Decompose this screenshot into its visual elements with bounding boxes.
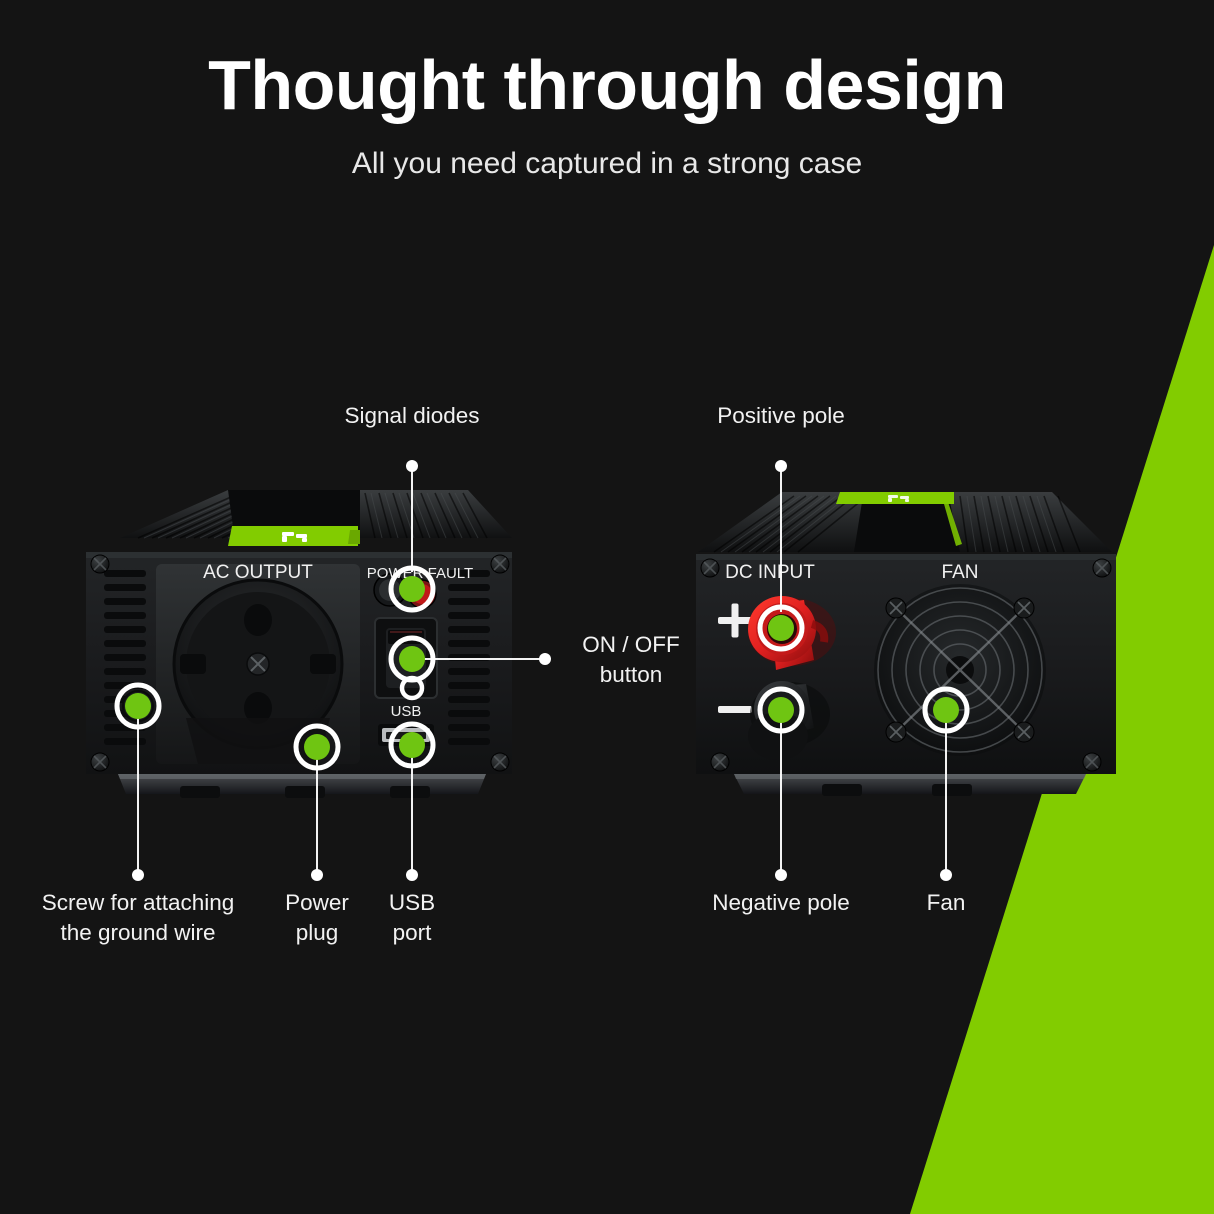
dot-ground-screw (132, 869, 144, 881)
label-power-fault: POWER FAULT (367, 565, 473, 582)
dot-power-plug (311, 869, 323, 881)
dot-on-off (539, 653, 551, 665)
page-title: Thought through design (0, 46, 1214, 124)
callout-usb-port: USB port (357, 888, 467, 948)
label-ac-output: AC OUTPUT (203, 562, 313, 583)
dot-positive-pole (775, 460, 787, 472)
inverter-rear-device: DC INPUT FAN (672, 474, 1140, 818)
inverter-front-device: AC OUTPUT POWER FAULT USB (60, 478, 540, 818)
callout-fan: Fan (886, 888, 1006, 918)
dot-usb-port (406, 869, 418, 881)
fan-grille (874, 584, 1046, 756)
callout-on-off-button: ON / OFF button (556, 630, 706, 690)
callout-signal-diodes: Signal diodes (292, 401, 532, 431)
dot-negative-pole (775, 869, 787, 881)
page-subtitle: All you need captured in a strong case (0, 145, 1214, 183)
usb-port-group (378, 724, 434, 746)
dot-signal-diodes (406, 460, 418, 472)
label-dc-input: DC INPUT (725, 562, 815, 583)
callout-positive-pole: Positive pole (661, 401, 901, 431)
label-fan: FAN (942, 562, 979, 583)
callout-ground-screw: Screw for attaching the ground wire (18, 888, 258, 948)
on-off-switch (375, 618, 437, 698)
callout-negative-pole: Negative pole (661, 888, 901, 918)
infographic-canvas: Thought through design All you need capt… (0, 0, 1214, 1214)
label-usb: USB (391, 703, 422, 720)
